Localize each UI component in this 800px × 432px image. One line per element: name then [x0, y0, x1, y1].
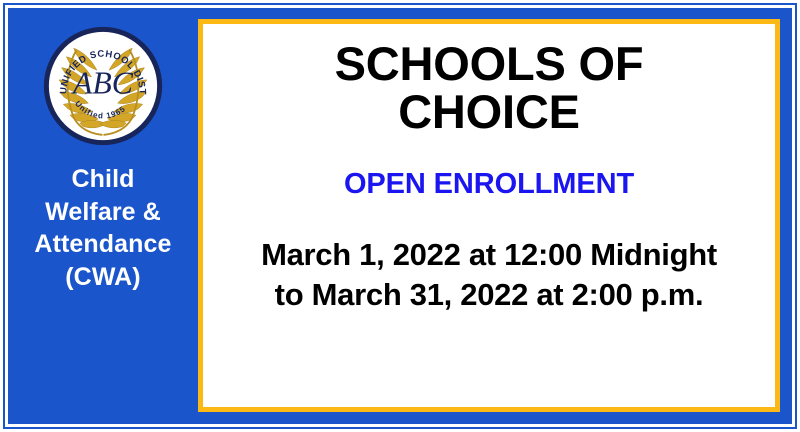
- department-name: Child Welfare & Attendance (CWA): [8, 163, 198, 293]
- page-title: SCHOOLS OF CHOICE: [335, 40, 644, 137]
- department-line-2: Welfare &: [8, 196, 198, 229]
- enrollment-end: to March 31, 2022 at 2:00 p.m.: [261, 275, 717, 315]
- banner-body: ABC UNIFIED SCHOOL DISTRICT Unified 1965…: [8, 8, 792, 424]
- department-line-4: (CWA): [8, 261, 198, 294]
- schools-of-choice-banner: ABC UNIFIED SCHOOL DISTRICT Unified 1965…: [0, 0, 800, 432]
- announcement-column: SCHOOLS OF CHOICE OPEN ENROLLMENT March …: [198, 8, 792, 424]
- department-line-3: Attendance: [8, 228, 198, 261]
- headline-line-2: CHOICE: [335, 88, 644, 136]
- svg-text:ABC: ABC: [71, 65, 134, 100]
- subheadline: OPEN ENROLLMENT: [344, 169, 634, 201]
- enrollment-start: March 1, 2022 at 12:00 Midnight: [261, 235, 717, 275]
- enrollment-window: March 1, 2022 at 12:00 Midnight to March…: [261, 235, 717, 316]
- department-line-1: Child: [8, 163, 198, 196]
- headline-line-1: SCHOOLS OF: [335, 40, 644, 88]
- announcement-card: SCHOOLS OF CHOICE OPEN ENROLLMENT March …: [198, 19, 780, 412]
- abc-unified-school-district-seal-icon: ABC UNIFIED SCHOOL DISTRICT Unified 1965…: [42, 25, 164, 147]
- district-identity-column: ABC UNIFIED SCHOOL DISTRICT Unified 1965…: [8, 8, 198, 424]
